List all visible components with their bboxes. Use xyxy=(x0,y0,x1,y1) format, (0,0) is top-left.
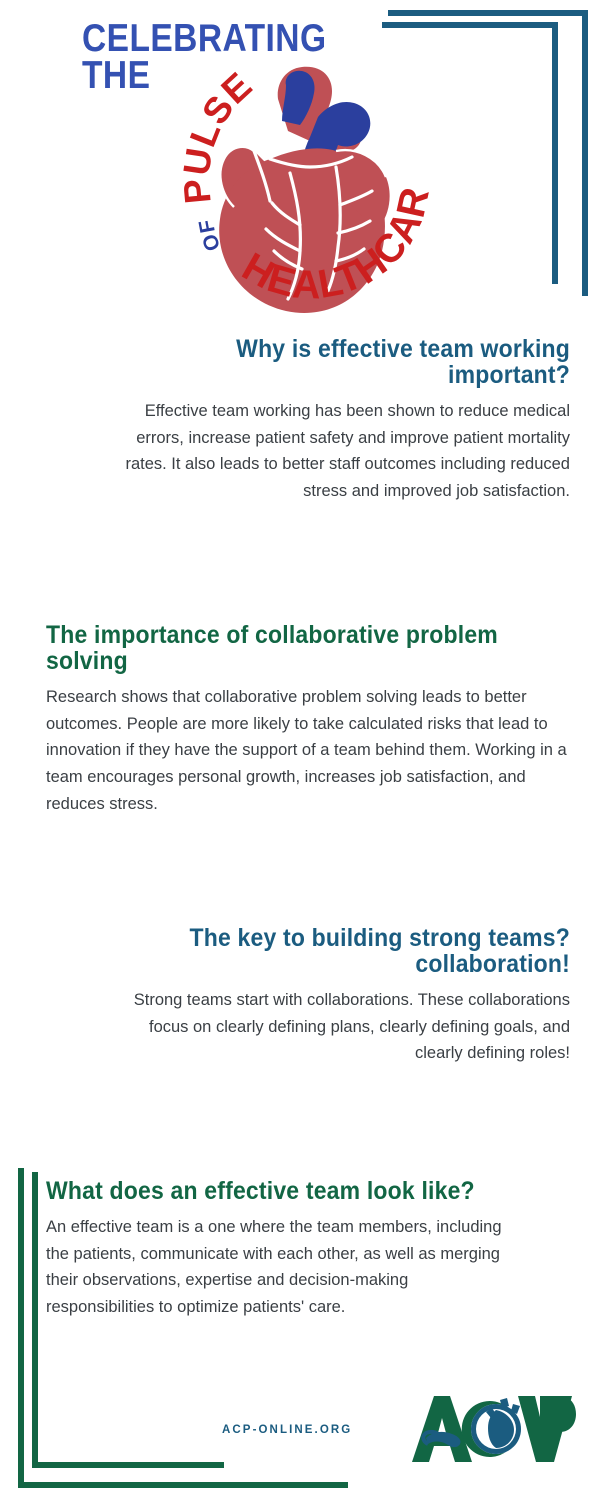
footer: ACP-ONLINE.ORG xyxy=(0,1382,600,1474)
section-heading-key: The key to building strong teams? collab… xyxy=(138,925,570,977)
section-heading-why: Why is effective team working important? xyxy=(145,336,570,388)
section-collaborative-problem-solving: The importance of collaborative problem … xyxy=(46,622,578,818)
section-body-key: Strong teams start with collaborations. … xyxy=(100,987,570,1067)
section-body-effective: An effective team is a one where the tea… xyxy=(46,1214,520,1321)
hero-header: CELEBRATING THE xyxy=(0,0,600,330)
acvp-logo[interactable] xyxy=(408,1382,586,1474)
section-body-why: Effective team working has been shown to… xyxy=(108,398,570,505)
section-body-collaborative: Research shows that collaborative proble… xyxy=(46,684,578,818)
section-heading-effective: What does an effective team look like? xyxy=(46,1178,482,1204)
website-url-link[interactable]: ACP-ONLINE.ORG xyxy=(222,1424,352,1436)
anatomical-heart-logo: PULSE OF HEALTHCARE xyxy=(150,55,450,320)
section-why-effective-team-working: Why is effective team working important?… xyxy=(108,336,570,505)
page-title: CELEBRATING THE xyxy=(82,20,326,94)
section-key-to-strong-teams: The key to building strong teams? collab… xyxy=(100,925,570,1067)
section-heading-collaborative: The importance of collaborative problem … xyxy=(46,622,535,674)
section-what-effective-team-looks-like: What does an effective team look like? A… xyxy=(46,1178,520,1321)
